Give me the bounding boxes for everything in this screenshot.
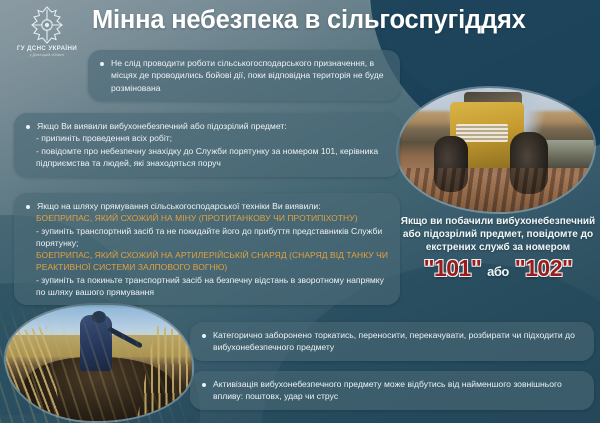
panel1-bullet-text: Не слід проводити роботи сільськогоспода…	[111, 57, 390, 94]
photo-sapper-head	[92, 311, 106, 323]
info-panel-if-you-found-object: Якщо Ви виявили вибухонебезпечний або пі…	[14, 113, 400, 177]
info-panel-no-agricultural-work: Не слід проводити роботи сільськогоспода…	[88, 50, 400, 101]
plow-implement	[544, 140, 594, 168]
page-title: Мінна небезпека в сільгоспугіддях	[92, 6, 592, 35]
panel3-bullet-text: Якщо на шляху прямування сільськогоспода…	[37, 200, 321, 212]
bullet-dot-icon	[100, 62, 104, 66]
plowed-furrows	[398, 168, 594, 212]
bullet-dot-icon	[26, 205, 30, 209]
emergency-callout: Якщо ви побачили вибухонебезпечний або п…	[400, 216, 596, 280]
tractor-plowing-field-photo	[398, 88, 594, 212]
panel3-warning-mine: БОЕПРИПАС, ЯКИЙ СХОЖИЙ НА МІНУ (ПРОТИТАН…	[36, 212, 390, 224]
emergency-numbers: "101" або "102"	[400, 257, 596, 280]
bullet-dot-icon	[202, 383, 206, 387]
photo-sapper-figure	[80, 315, 112, 371]
emergency-callout-text: Якщо ви побачили вибухонебезпечний або п…	[400, 216, 596, 254]
info-panel-ordnance-on-route: Якщо на шляху прямування сільськогоспода…	[14, 193, 400, 305]
panel2-bullet-text: Якщо Ви виявили вибухонебезпечний або пі…	[37, 120, 287, 132]
panel3-warning-artillery-shell: БОЕПРИПАС, ЯКИЙ СХОЖИЙ НА АРТИЛЕРІЙСЬКІЙ…	[36, 249, 390, 273]
panel2-substep-2: - повідомте про небезпечну знахідку до С…	[36, 145, 390, 170]
emergency-number-101: "101"	[424, 255, 482, 281]
panel4-bullet-text: Категорично заборонено торкатись, перено…	[213, 329, 584, 354]
info-panel-strictly-forbidden: Категорично заборонено торкатись, перено…	[190, 322, 594, 361]
bullet-dot-icon	[26, 125, 30, 129]
info-panel-activation-warning: Активізація вибухонебезпечного предмету …	[190, 371, 594, 410]
infographic-poster: ГУ ДСНС УКРАЇНИ у Донецькій області Мінн…	[0, 0, 600, 423]
sapper-digging-in-wheat-field-photo	[6, 305, 192, 421]
logo-primary-text: ГУ ДСНС УКРАЇНИ	[17, 45, 77, 52]
emergency-number-separator: або	[487, 264, 509, 279]
dsns-cross-emblem-icon	[27, 6, 67, 44]
panel2-substep-1: - припиніть проведення всіх робіт;	[36, 132, 390, 144]
panel3-substep-1: - зупиніть транспортний засіб та не поки…	[36, 225, 390, 250]
emergency-number-102: "102"	[515, 255, 573, 281]
panel5-bullet-text: Активізація вибухонебезпечного предмету …	[213, 378, 584, 403]
panel3-substep-2: - зупиніть та покиньте транспортний засі…	[36, 274, 390, 299]
organization-logo: ГУ ДСНС УКРАЇНИ у Донецькій області	[8, 6, 86, 60]
logo-secondary-text: у Донецькій області	[30, 53, 65, 57]
bullet-dot-icon	[202, 334, 206, 338]
